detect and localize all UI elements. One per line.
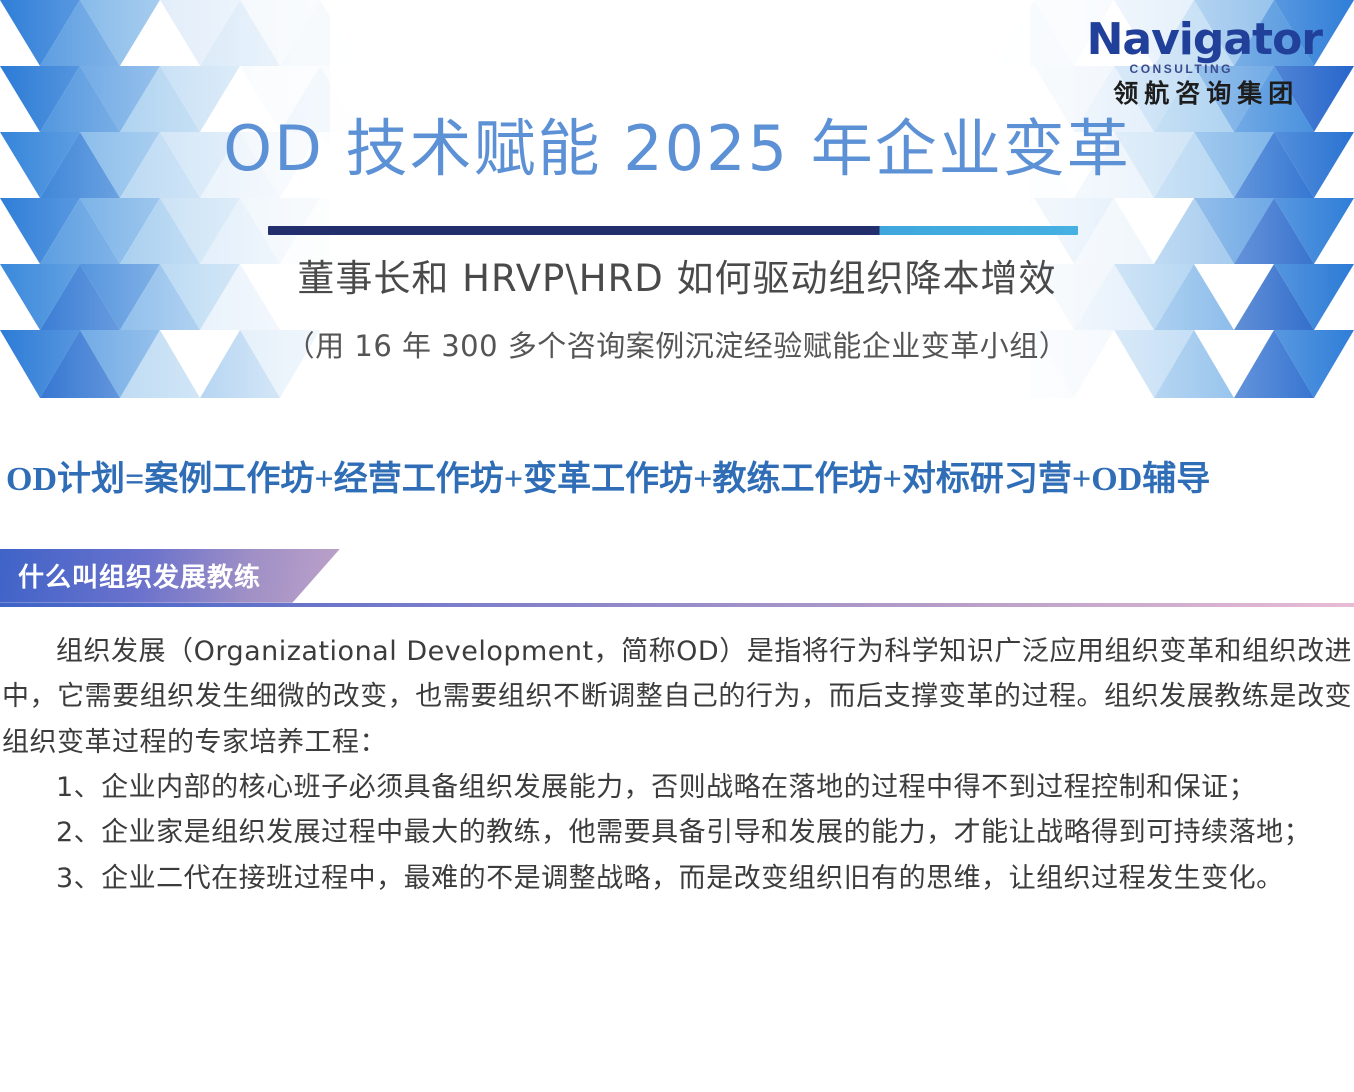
hero-banner: Navigator CONSULTING 领航咨询集团 OD 技术赋能 2025… [0,0,1354,398]
od-plan-line: OD计划=案例工作坊+经营工作坊+变革工作坊+教练工作坊+对标研习营+OD辅导 [0,460,1354,501]
article-paragraph: 3、企业二代在接班过程中，最难的不是调整战略，而是改变组织旧有的思维，让组织过程… [2,856,1352,901]
article-paragraph: 组织发展（Organizational Development，简称OD）是指将… [2,629,1352,765]
article-body: 组织发展（Organizational Development，简称OD）是指将… [0,629,1354,925]
article-paragraph: 2、企业家是组织发展过程中最大的教练，他需要具备引导和发展的能力，才能让战略得到… [2,810,1352,855]
section-underline [0,603,1354,607]
brand-logo-wordmark: Navigator [1087,18,1322,62]
section-banner-label: 什么叫组织发展教练 [18,557,261,594]
article-paragraph: 1、企业内部的核心班子必须具备组织发展能力，否则战略在落地的过程中得不到过程控制… [2,765,1352,810]
brand-logo: Navigator CONSULTING 领航咨询集团 [1087,18,1322,106]
section-header: 什么叫组织发展教练 [0,549,1354,603]
brand-logo-chinese-name: 领航咨询集团 [1087,81,1322,106]
section-banner: 什么叫组织发展教练 [0,549,340,603]
